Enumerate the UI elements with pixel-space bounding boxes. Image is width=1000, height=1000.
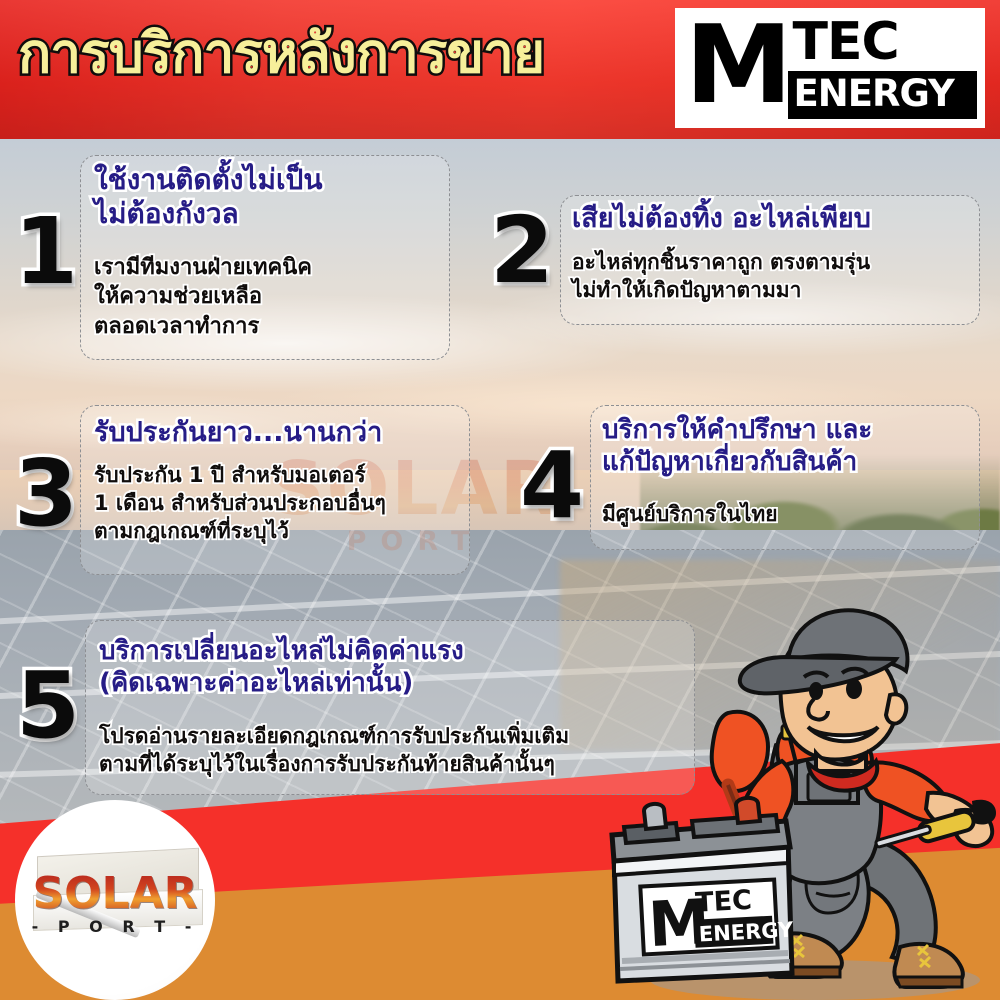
- feature-body-2-line2: ไม่ทำให้เกิดปัญหาตามมา: [572, 276, 987, 304]
- feature-body-1: เรามีทีมงานฝ่ายเทคนิค ให้ความช่วยเหลือ ต…: [94, 253, 444, 341]
- logo-text-group: SOLAR - P O R T -: [32, 873, 199, 936]
- feature-heading-1-line2: ไม่ต้องกังวล: [94, 197, 444, 231]
- feature-heading-3-line1: รับประกันยาว...นานกว่า: [94, 417, 464, 450]
- feature-body-3: รับประกัน 1 ปี สำหรับมอเตอร์ 1 เดือน สำห…: [94, 461, 474, 545]
- feature-heading-2-line1: เสียไม่ต้องทิ้ง อะไหล่เพียบ: [572, 203, 982, 236]
- poster-root: SOLAR PORT การบริการหลังการขาย M TEC ENE…: [0, 0, 1000, 1000]
- svg-text:TEC: TEC: [694, 885, 752, 919]
- feature-number-5: 5: [16, 660, 80, 752]
- feature-body-4: มีศูนย์บริการในไทย: [602, 500, 982, 528]
- page-title: การบริการหลังการขาย: [18, 25, 678, 83]
- feature-heading-2: เสียไม่ต้องทิ้ง อะไหล่เพียบ: [572, 203, 982, 236]
- feature-number-2: 2: [490, 205, 554, 297]
- feature-body-2-line1: อะไหล่ทุกชิ้นราคาถูก ตรงตามรุ่น: [572, 248, 987, 276]
- feature-heading-3: รับประกันยาว...นานกว่า: [94, 417, 464, 450]
- mechanic-illustration: M TEC ENERGY: [600, 595, 1000, 1000]
- feature-body-1-line1: เรามีทีมงานฝ่ายเทคนิค: [94, 253, 444, 282]
- feature-body-1-line2: ให้ความช่วยเหลือ: [94, 282, 444, 311]
- mtec-logo-m: M: [685, 18, 786, 120]
- mtec-logo-right: TEC ENERGY: [788, 16, 977, 120]
- feature-heading-4: บริการให้คำปรึกษา และ แก้ปัญหาเกี่ยวกับส…: [602, 415, 982, 478]
- feature-body-3-line3: ตามกฎเกณฑ์ที่ระบุไว้: [94, 517, 474, 545]
- feature-heading-1-line1: ใช้งานติดตั้งไม่เป็น: [94, 163, 444, 197]
- mtec-logo: M TEC ENERGY: [675, 8, 985, 128]
- mtec-logo-energy: ENERGY: [788, 71, 977, 119]
- feature-number-1: 1: [14, 206, 78, 298]
- feature-heading-4-line1: บริการให้คำปรึกษา และ: [602, 415, 982, 447]
- feature-heading-4-line2: แก้ปัญหาเกี่ยวกับสินค้า: [602, 447, 982, 479]
- feature-body-2: อะไหล่ทุกชิ้นราคาถูก ตรงตามรุ่น ไม่ทำให้…: [572, 248, 987, 304]
- feature-number-4: 4: [520, 440, 584, 532]
- feature-body-1-line3: ตลอดเวลาทำการ: [94, 312, 444, 341]
- mtec-logo-tec: TEC: [788, 17, 977, 67]
- header-bar: การบริการหลังการขาย M TEC ENERGY: [0, 0, 1000, 139]
- feature-number-3: 3: [14, 448, 78, 540]
- feature-body-4-line1: มีศูนย์บริการในไทย: [602, 500, 982, 528]
- feature-body-3-line1: รับประกัน 1 ปี สำหรับมอเตอร์: [94, 461, 474, 489]
- logo-port-text: - P O R T -: [32, 917, 199, 936]
- feature-body-3-line2: 1 เดือน สำหรับส่วนประกอบอื่นๆ: [94, 489, 474, 517]
- logo-solar-text: SOLAR: [32, 873, 199, 915]
- feature-heading-1: ใช้งานติดตั้งไม่เป็น ไม่ต้องกังวล: [94, 163, 444, 231]
- svg-text:ENERGY: ENERGY: [698, 918, 794, 947]
- solarport-circle-logo: SOLAR - P O R T -: [15, 800, 215, 1000]
